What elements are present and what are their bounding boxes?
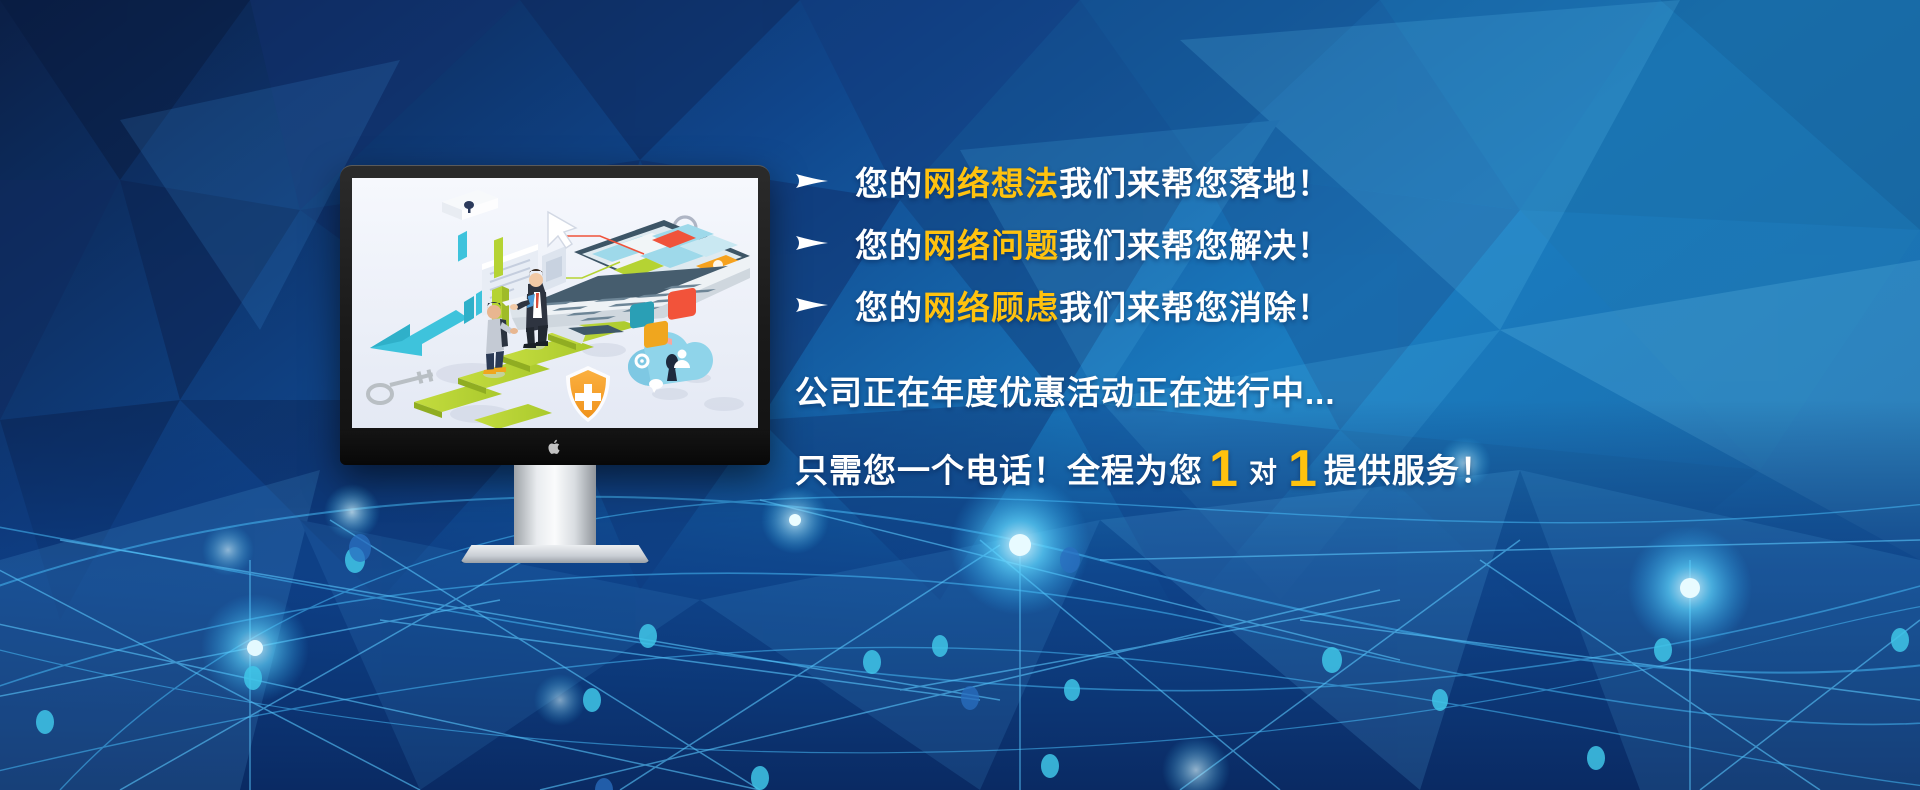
- apple-logo-icon: [548, 439, 562, 455]
- bullet-item: 您的网络想法我们来帮您落地！: [795, 150, 1795, 212]
- bullet-pre: 您的: [855, 227, 923, 264]
- bullet-post: 我们来帮您落地！: [1059, 165, 1331, 202]
- bullet-highlight: 网络顾虑: [923, 289, 1059, 326]
- monitor-stand-base: [460, 545, 650, 563]
- bullet-text: 您的网络问题我们来帮您解决！: [855, 219, 1331, 267]
- cta-number-first: 1: [1203, 440, 1245, 498]
- promo-banner: 您的网络想法我们来帮您落地！ 您的网络问题我们来帮您解决！ 您的网络顾虑我们来帮…: [0, 0, 1920, 790]
- bullet-item: 您的网络顾虑我们来帮您消除！: [795, 274, 1795, 336]
- triangle-arrow-icon: [795, 171, 829, 191]
- cta-number-second: 1: [1282, 440, 1324, 498]
- monitor-chin: [340, 431, 770, 465]
- bullet-item: 您的网络问题我们来帮您解决！: [795, 212, 1795, 274]
- cta-line: 只需您一个电话！全程为您1对1提供服务！: [795, 444, 1795, 492]
- triangle-arrow-icon: [795, 295, 829, 315]
- imac-monitor-illustration: [340, 165, 770, 465]
- bullet-post: 我们来帮您解决！: [1059, 227, 1331, 264]
- cta-lead: 只需您一个电话！全程为您: [795, 452, 1203, 489]
- monitor-screen: [352, 178, 758, 428]
- bullet-pre: 您的: [855, 289, 923, 326]
- cta-tail: 提供服务！: [1324, 452, 1494, 489]
- monitor-stand-neck: [514, 465, 596, 551]
- bullet-pre: 您的: [855, 165, 923, 202]
- isometric-scene: [352, 178, 758, 428]
- bullet-post: 我们来帮您消除！: [1059, 289, 1331, 326]
- triangle-arrow-icon: [795, 233, 829, 253]
- bullet-text: 您的网络想法我们来帮您落地！: [855, 157, 1331, 205]
- bullet-highlight: 网络想法: [923, 165, 1059, 202]
- bullet-highlight: 网络问题: [923, 227, 1059, 264]
- bullet-text: 您的网络顾虑我们来帮您消除！: [855, 281, 1331, 329]
- promo-line: 公司正在年度优惠活动正在进行中...: [795, 366, 1795, 414]
- cta-between: 对: [1245, 457, 1282, 488]
- marketing-copy-block: 您的网络想法我们来帮您落地！ 您的网络问题我们来帮您解决！ 您的网络顾虑我们来帮…: [795, 150, 1795, 492]
